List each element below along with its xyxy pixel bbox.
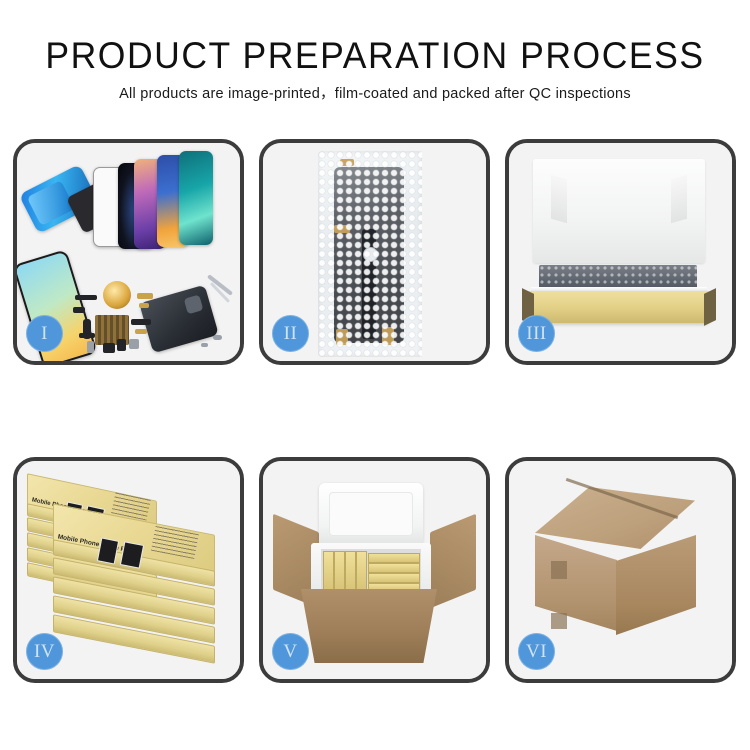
step-panel-6: VI — [505, 457, 736, 683]
carton-right-face — [616, 535, 696, 635]
spare-part-icon — [73, 307, 85, 313]
step-panel-1: I — [13, 139, 244, 365]
page-title: PRODUCT PREPARATION PROCESS — [15, 34, 735, 78]
bubble-texture — [318, 151, 422, 357]
spare-part-icon — [75, 295, 97, 300]
spare-part-icon — [87, 341, 94, 353]
spare-part-icon — [139, 303, 149, 308]
screw-icon — [213, 335, 222, 340]
spare-part-icon — [79, 333, 95, 338]
page-subtitle: All products are image-printed，film-coat… — [0, 85, 750, 104]
inner-box-icon — [368, 573, 420, 583]
step-badge-2: II — [272, 315, 309, 352]
spare-part-icon — [103, 343, 115, 353]
spare-part-icon — [135, 329, 147, 334]
vibration-motor-icon — [103, 281, 131, 309]
inner-box-icon — [334, 551, 345, 591]
inner-box-icon — [368, 563, 420, 573]
carton-tape-icon — [551, 561, 567, 579]
step-panel-3: III — [505, 139, 736, 365]
product-preparation-infographic: PRODUCT PREPARATION PROCESS All products… — [0, 0, 750, 750]
inner-box-icon — [323, 551, 334, 591]
step-panel-2: II — [259, 139, 490, 365]
spare-part-icon — [137, 293, 153, 299]
lid-flap-right — [671, 175, 687, 224]
teal-phone-icon — [179, 151, 213, 245]
step-panel-5: V — [259, 457, 490, 683]
spare-part-icon — [117, 339, 126, 351]
step-badge-1: I — [26, 315, 63, 352]
kraft-box-front-icon — [529, 291, 709, 323]
lid-flap-left — [551, 175, 567, 224]
step-panel-4: Mobile Phone Spare Parts Mobile Phone Sp… — [13, 457, 244, 683]
process-grid: I II — [13, 139, 737, 683]
inner-box-icon — [356, 551, 367, 591]
foam-lid-icon — [319, 483, 423, 545]
screw-icon — [201, 343, 208, 347]
spare-part-icon — [129, 339, 139, 349]
carton-body-icon — [301, 589, 437, 663]
spare-part-icon — [131, 319, 151, 325]
bubble-wrap-bag-icon — [318, 151, 422, 357]
header: PRODUCT PREPARATION PROCESS All products… — [0, 34, 750, 104]
inner-box-icon — [368, 553, 420, 563]
carton-left-face — [535, 535, 617, 631]
step-badge-3: III — [518, 315, 555, 352]
foam-lid-icon — [533, 159, 705, 263]
carton-tape-icon — [551, 613, 567, 629]
foam-cavity — [321, 549, 421, 591]
step-badge-4: IV — [26, 633, 63, 670]
carton-flap-right — [430, 514, 476, 609]
step-badge-6: VI — [518, 633, 555, 670]
inner-box-icon — [345, 551, 356, 591]
step-badge-5: V — [272, 633, 309, 670]
